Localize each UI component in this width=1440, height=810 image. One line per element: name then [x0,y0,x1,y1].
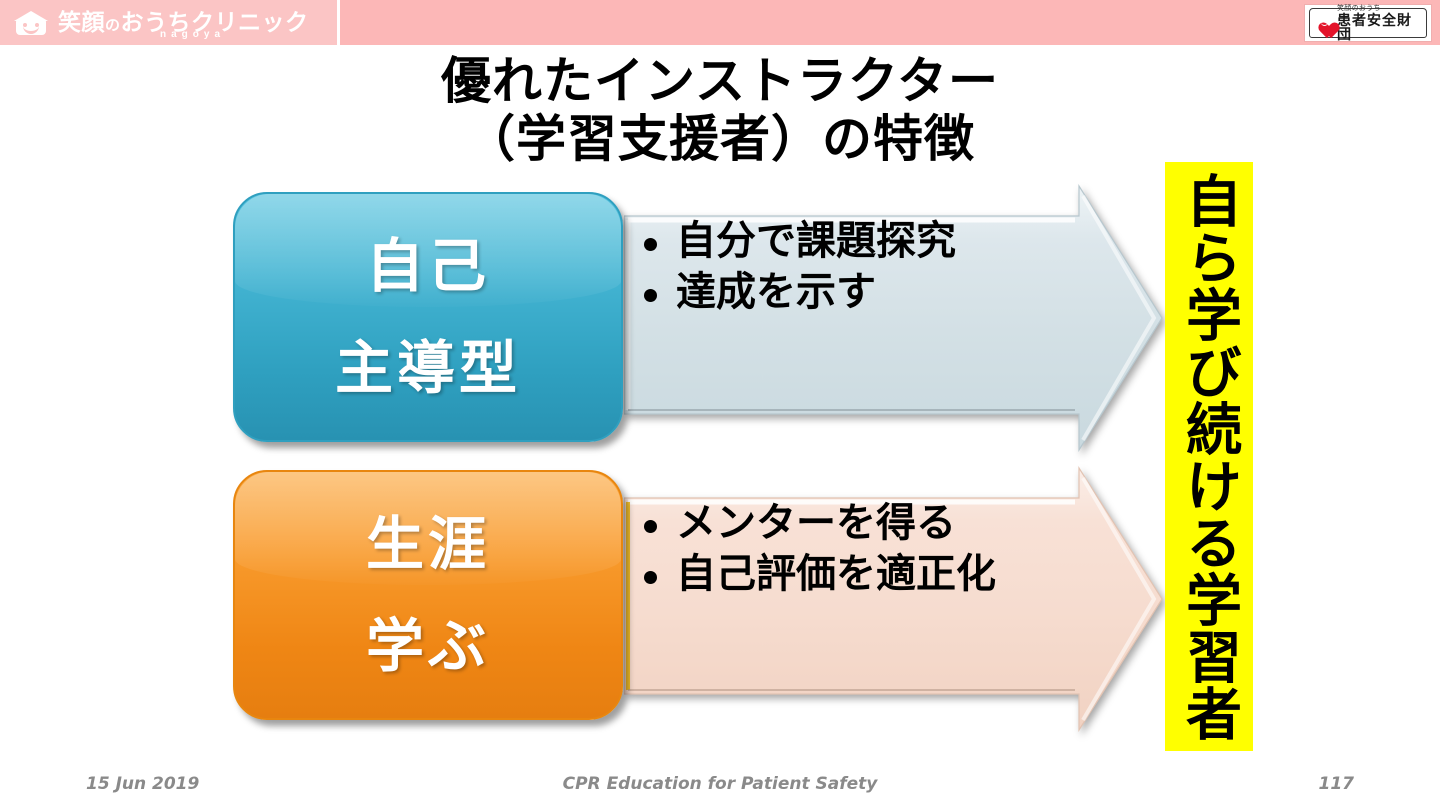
clinic-subtitle: nagoya [160,29,225,40]
arrow-bullets-2: メンターを得る 自己評価を適正化 [636,498,1106,600]
slide-title: 優れたインストラクター （学習支援者）の特徴 [200,52,1240,168]
concept-box-self-directed: 自己 主導型 [233,192,623,442]
concept-box-lifelong-learning: 生涯 学ぶ [233,470,623,720]
clinic-name-no: の [105,17,121,34]
footer-page-number: 117 [1319,774,1355,794]
outcome-banner-text: 自ら学び続ける学習者 [1180,172,1237,742]
foundation-main-text: 患者安全財団 [1337,13,1426,41]
foundation-logo: 笑顔のおうち 患者安全財団 [1304,4,1432,42]
foundation-top-text: 笑顔のおうち [1337,5,1426,12]
heart-face-icon [1314,14,1334,32]
box-line-1: 自己 [366,237,490,295]
outcome-banner: 自ら学び続ける学習者 [1165,162,1253,751]
title-line-2: （学習支援者）の特徴 [200,110,1240,168]
slide-footer: 15 Jun 2019 CPR Education for Patient Sa… [0,774,1440,798]
bullet-item: 達成を示す [636,267,1056,318]
clinic-name-main: 笑顔 [58,9,105,35]
house-face-icon [14,11,48,35]
arrow-bullets-1: 自分で課題探究 達成を示す [636,216,1056,318]
title-line-1: 優れたインストラクター [441,52,999,110]
box-line-1: 生涯 [366,515,490,573]
bullet-item: 自己評価を適正化 [636,549,1106,600]
box-line-2: 主導型 [335,339,521,397]
header-divider [337,0,340,45]
slide: 笑顔のおうちクリニック nagoya 笑顔のおうち 患者安全財団 優れたインスト… [0,0,1440,810]
header-bar: 笑顔のおうちクリニック nagoya 笑顔のおうち 患者安全財団 [0,0,1440,45]
bullet-item: メンターを得る [636,498,1106,549]
box-line-2: 学ぶ [366,617,490,675]
footer-title: CPR Education for Patient Safety [0,774,1440,794]
bullet-item: 自分で課題探究 [636,216,1056,267]
